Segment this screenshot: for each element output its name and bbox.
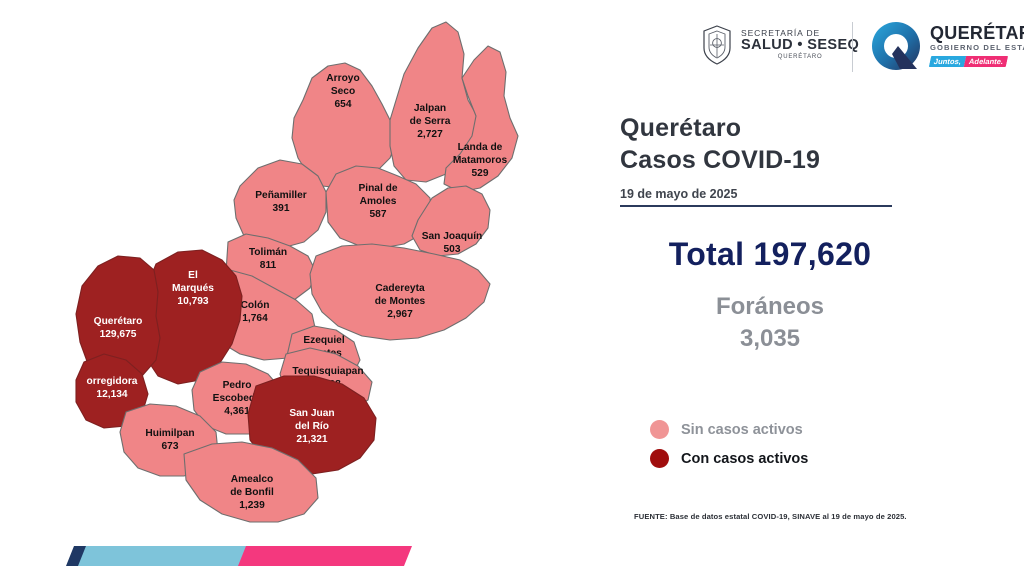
label-arroyo-seco-l1: Arroyo	[326, 73, 359, 84]
label-tequisquiapan-l1: Tequisquiapan	[292, 366, 363, 377]
foraneos-label: Foráneos	[620, 293, 920, 321]
legend-label-active: Con casos activos	[681, 451, 808, 467]
report-date: 19 de mayo de 2025	[620, 187, 920, 201]
total-cases: Total 197,620	[620, 236, 920, 273]
label-arroyo-seco-value: 654	[335, 99, 352, 110]
bottom-accent-bar	[60, 542, 420, 568]
label-pedro-l1: Pedro	[223, 380, 252, 391]
page-title-line2: Casos COVID-19	[620, 144, 920, 176]
label-amealco-value: 1,239	[239, 500, 265, 511]
label-jalpan-l2: de Serra	[410, 116, 451, 127]
label-pinal-value: 587	[370, 209, 387, 220]
qro-logo-name: QUERÉTARO	[930, 24, 1024, 42]
label-san-joaquin-l1: San Joaquín	[422, 231, 483, 242]
label-cadereyta-l2: de Montes	[375, 296, 426, 307]
label-san-juan-l2: del Río	[295, 421, 329, 432]
label-amealco-l2: de Bonfil	[230, 487, 274, 498]
label-cadereyta-value: 2,967	[387, 309, 413, 320]
tagline-adelante: Adelante.	[964, 56, 1008, 67]
label-san-juan-value: 21,321	[296, 434, 327, 445]
label-pinal-l2: Amoles	[360, 196, 397, 207]
seseq-line3: QUERÉTARO	[741, 54, 859, 60]
label-arroyo-seco-l2: Seco	[331, 86, 355, 97]
qro-logo-tagline: Juntos, Adelante.	[929, 56, 1008, 67]
foraneos-value: 3,035	[620, 325, 920, 353]
label-landa-l1: Landa de	[458, 142, 503, 153]
label-queretaro-l1: Querétaro	[94, 316, 143, 327]
label-el-marques-l1: El	[188, 270, 198, 281]
label-colon-value: 1,764	[242, 313, 268, 324]
legend-dot-inactive-icon	[650, 420, 669, 439]
label-huimilpan-l1: Huimilpan	[145, 428, 194, 439]
source-note: FUENTE: Base de datos estatal COVID-19, …	[634, 512, 907, 521]
label-colon-l1: Colón	[241, 300, 270, 311]
tagline-juntos: Juntos,	[929, 56, 966, 67]
label-toliman-l1: Tolimán	[249, 247, 287, 258]
label-jalpan-value: 2,727	[417, 129, 443, 140]
label-corregidora-l1: orregidora	[87, 376, 138, 387]
label-toliman-value: 811	[260, 260, 277, 271]
queretaro-choropleth-map[interactable]: Arroyo Seco 654 Jalpan de Serra 2,727 La…	[60, 8, 560, 533]
logo-divider	[852, 22, 853, 72]
label-huimilpan-value: 673	[162, 441, 179, 452]
label-penamiller-value: 391	[273, 203, 290, 214]
label-landa-l2: Matamoros	[453, 155, 508, 166]
info-panel: Querétaro Casos COVID-19 19 de mayo de 2…	[620, 112, 920, 353]
q-monogram-icon	[870, 20, 922, 72]
label-amealco-l1: Amealco	[231, 474, 273, 485]
header-logos: SECRETARÍA DE SALUD • SESEQ QUERÉTARO QU	[700, 20, 1000, 82]
label-el-marques-value: 10,793	[177, 296, 208, 307]
seseq-line2: SALUD • SESEQ	[741, 38, 859, 53]
legend-item-sin-casos-activos[interactable]: Sin casos activos	[650, 420, 808, 439]
qro-logo-subtitle: GOBIERNO DEL ESTADO	[930, 44, 1024, 52]
map-legend: Sin casos activos Con casos activos	[650, 420, 808, 478]
title-divider	[620, 205, 892, 207]
label-jalpan-l1: Jalpan	[414, 103, 446, 114]
label-san-juan-l1: San Juan	[289, 408, 334, 419]
legend-item-con-casos-activos[interactable]: Con casos activos	[650, 449, 808, 468]
shield-coat-of-arms-icon	[700, 24, 734, 66]
label-corregidora-value: 12,134	[96, 389, 127, 400]
legend-label-inactive: Sin casos activos	[681, 422, 803, 438]
seseq-logo: SECRETARÍA DE SALUD • SESEQ QUERÉTARO	[700, 24, 859, 66]
label-queretaro-value: 129,675	[100, 329, 137, 340]
page-title-line1: Querétaro	[620, 112, 920, 144]
label-cadereyta-l1: Cadereyta	[375, 283, 425, 294]
legend-dot-active-icon	[650, 449, 669, 468]
label-landa-value: 529	[472, 168, 489, 179]
label-pedro-value: 4,361	[224, 406, 250, 417]
label-ezequiel-l1: Ezequiel	[303, 335, 344, 346]
label-el-marques-l2: Marqués	[172, 283, 214, 294]
label-penamiller-l1: Peñamiller	[255, 190, 307, 201]
label-pinal-l1: Pinal de	[358, 183, 397, 194]
label-san-joaquin-value: 503	[444, 244, 461, 255]
map-region-cadereyta-de-montes[interactable]: Cadereyta de Montes 2,967	[310, 244, 490, 340]
queretaro-gov-logo: QUERÉTARO GOBIERNO DEL ESTADO Juntos, Ad…	[870, 20, 1024, 72]
